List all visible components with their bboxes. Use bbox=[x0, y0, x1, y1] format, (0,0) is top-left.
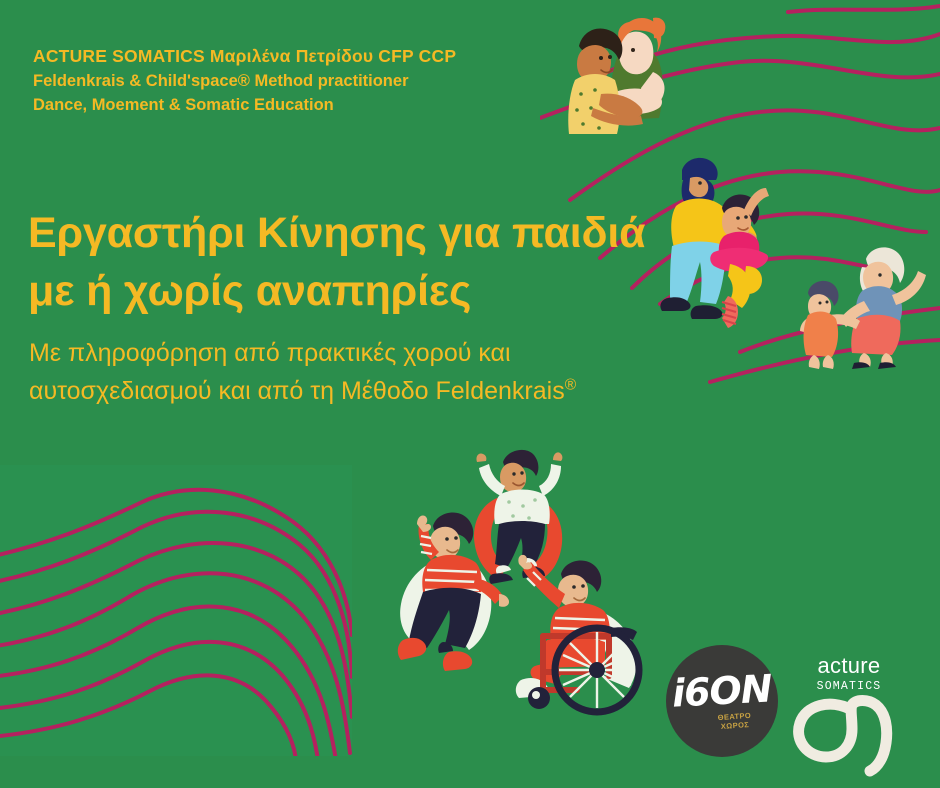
headline-line-2: με ή χωρίς αναπηρίες bbox=[28, 263, 708, 321]
acture-swirl-mark bbox=[790, 695, 908, 777]
registered-mark: ® bbox=[565, 377, 576, 394]
running-girl bbox=[398, 512, 509, 671]
acture-wordmark: acture bbox=[790, 655, 908, 677]
contour-lines-bottom-left bbox=[0, 465, 352, 756]
three-caped-children-illustration bbox=[375, 440, 655, 720]
subheadline-line-1: Με πληροφόρηση από πρακτικές χορού και bbox=[29, 334, 679, 372]
ison-logo[interactable]: i6ON ΘΕΑΤΡΟ ΧΩΡΟΣ bbox=[666, 645, 778, 757]
elder-dancing-with-child-illustration bbox=[800, 245, 930, 370]
subheadline-line-2: αυτοσχεδιασμού και από τη Μέθοδο Feldenk… bbox=[29, 372, 679, 410]
education-line: Dance, Moement & Somatic Education bbox=[33, 93, 553, 117]
subheadline-line-2-text: αυτοσχεδιασμού και από τη Μέθοδο Feldenk… bbox=[29, 377, 565, 405]
poster-subheadline: Με πληροφόρηση από πρακτικές χορού και α… bbox=[29, 334, 679, 410]
headline-line-1: Εργαστήρι Κίνησης για παιδιά bbox=[28, 205, 708, 263]
ison-tagline: ΘΕΑΤΡΟ ΧΩΡΟΣ bbox=[718, 712, 753, 732]
ison-wordmark: i6ON bbox=[671, 669, 772, 712]
poster-canvas: ACTURE SOMATICS Μαριλένα Πετρίδου CFP CC… bbox=[0, 0, 940, 788]
poster-headline: Εργαστήρι Κίνησης για παιδιά με ή χωρίς … bbox=[28, 205, 708, 320]
bottom-left-illustration-panel bbox=[0, 465, 352, 756]
header-text-block: ACTURE SOMATICS Μαριλένα Πετρίδου CFP CC… bbox=[33, 44, 553, 117]
parent-and-child-illustration bbox=[553, 10, 693, 135]
boy-in-wheelchair bbox=[516, 555, 639, 712]
jumping-child bbox=[474, 450, 562, 584]
acture-somatics-subtitle: SOMATICS bbox=[790, 680, 908, 693]
practitioner-line: Feldenkrais & Child'space® Method practi… bbox=[33, 69, 553, 93]
ison-tagline-line-2: ΧΩΡΟΣ bbox=[718, 720, 752, 731]
organization-line: ACTURE SOMATICS Μαριλένα Πετρίδου CFP CC… bbox=[33, 44, 553, 69]
acture-somatics-logo[interactable]: acture SOMATICS bbox=[790, 655, 908, 780]
